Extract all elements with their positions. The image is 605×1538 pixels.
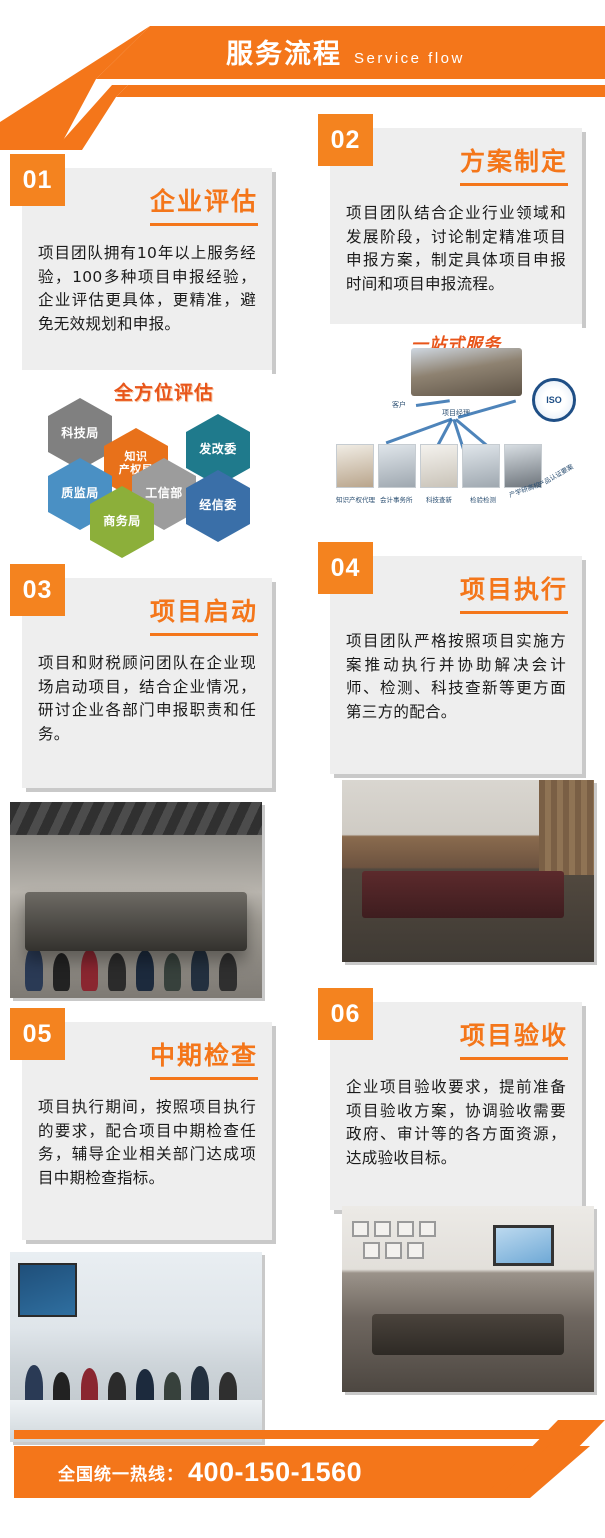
footer-hotline-group: 全国统一热线： 400-150-1560 [58, 1446, 362, 1498]
card-02-badge: 02 [318, 114, 373, 166]
service-tile-accounting [378, 444, 416, 488]
photo-lobby-people [10, 1301, 262, 1415]
card-03-photo [10, 802, 262, 998]
card-01-title: 企业评估 [150, 182, 258, 226]
hex-diagram: 全方位评估 科技局 知识 产权局 发改委 质监局 工信部 商务局 经信委 [22, 370, 272, 538]
infographic-page: 服务流程 Service flow 01 企业评估 项目团队拥有10年以上服务经… [0, 0, 605, 1538]
photo-people-group [10, 880, 262, 998]
card-01-badge: 01 [10, 154, 65, 206]
card-03-badge: 03 [10, 564, 65, 616]
card-04-body: 项目团队严格按照项目实施方案推动执行并协助解决会计师、检测、科技查新等更方面第三… [330, 614, 582, 738]
footer-hotline-number[interactable]: 400-150-1560 [188, 1457, 362, 1488]
photo-conference-table [372, 1314, 564, 1355]
card-01-body: 项目团队拥有10年以上服务经验，100多种项目申报经验，企业评估更具体，更精准，… [22, 226, 272, 350]
service-tile-search [420, 444, 458, 488]
service-label-ip: 知识产权代理 [336, 494, 375, 504]
service-label-testing: 检验检测 [470, 494, 496, 504]
service-label-accounting: 会计事务所 [380, 494, 413, 504]
footer-hotline-label: 全国统一热线： [58, 1460, 184, 1485]
card-02[interactable]: 02 方案制定 项目团队结合企业行业领域和发展阶段，讨论制定精准项目申报方案，制… [330, 128, 582, 324]
card-03[interactable]: 03 项目启动 项目和财税顾问团队在企业现场启动项目，结合企业情况，研讨企业各部… [22, 578, 272, 788]
card-05-body: 项目执行期间，按照项目执行的要求，配合项目中期检查任务，辅导企业相关部门达成项目… [22, 1080, 272, 1204]
card-05-photo [10, 1252, 262, 1442]
service-label-search: 科技查新 [426, 494, 452, 504]
iso-seal-icon: ISO [532, 378, 576, 422]
page-subtitle: Service flow [354, 50, 465, 67]
service-node-customer: 客户 [392, 400, 406, 410]
card-06[interactable]: 06 项目验收 企业项目验收要求，提前准备项目验收方案，协调验收需要政府、审计等… [330, 1002, 582, 1210]
card-04[interactable]: 04 项目执行 项目团队严格按照项目实施方案推动执行并协助解决会计师、检测、科技… [330, 556, 582, 774]
card-05-title: 中期检查 [150, 1036, 258, 1080]
card-06-badge: 06 [318, 988, 373, 1040]
service-diagram: 一站式服务 客户 项目经理 知识产权代理 会计事务所 科技查新 检验检测 产学研… [330, 324, 582, 510]
service-tile-testing [462, 444, 500, 488]
card-04-photo [342, 780, 594, 962]
service-arrow-3 [386, 418, 453, 444]
card-04-badge: 04 [318, 542, 373, 594]
card-02-title: 方案制定 [460, 142, 568, 186]
card-05[interactable]: 05 中期检查 项目执行期间，按照项目执行的要求，配合项目中期检查任务，辅导企业… [22, 1022, 272, 1240]
card-06-photo [342, 1206, 594, 1392]
photo-projector-screen [493, 1225, 553, 1266]
card-06-title: 项目验收 [460, 1016, 568, 1060]
card-01[interactable]: 01 企业评估 项目团队拥有10年以上服务经验，100多种项目申报经验，企业评估… [22, 168, 272, 370]
service-arrow-1 [416, 399, 450, 406]
header-title-group: 服务流程 Service flow [226, 32, 465, 71]
service-hero-photo [411, 348, 522, 396]
card-03-body: 项目和财税顾问团队在企业现场启动项目，结合企业情况，研讨企业各部门申报职责和任务… [22, 636, 272, 760]
page-footer: 全国统一热线： 400-150-1560 [0, 1420, 605, 1538]
hex-diagram-title: 全方位评估 [114, 378, 214, 405]
card-06-body: 企业项目验收要求，提前准备项目验收方案，协调验收需要政府、审计等的各方面资源，达… [330, 1060, 582, 1184]
page-title: 服务流程 [226, 32, 342, 71]
card-05-badge: 05 [10, 1008, 65, 1060]
service-tile-ip [336, 444, 374, 488]
card-04-title: 项目执行 [460, 570, 568, 614]
card-02-body: 项目团队结合企业行业领域和发展阶段，讨论制定精准项目申报方案，制定具体项目申报时… [330, 186, 582, 310]
footer-band-thin [14, 1430, 590, 1439]
photo-wall-frames [352, 1221, 483, 1262]
card-03-title: 项目启动 [150, 592, 258, 636]
